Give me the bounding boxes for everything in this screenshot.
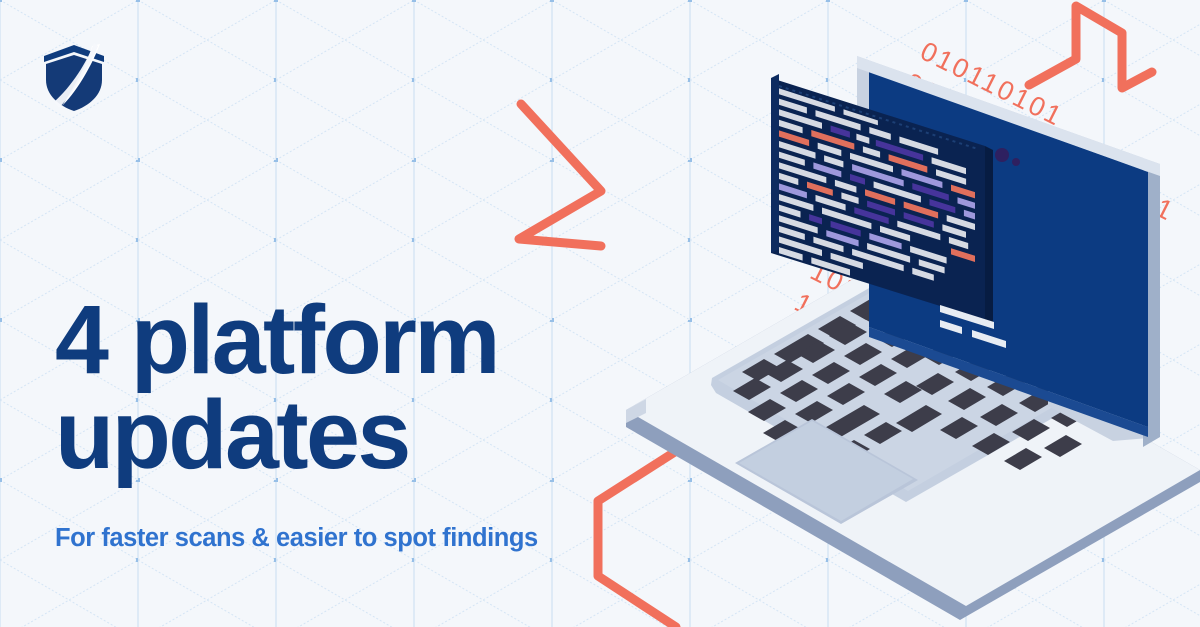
code-bar-text (779, 99, 807, 114)
code-bar-coral (807, 182, 833, 196)
promo-banner: 010110101 01010101001010101 010101101010… (0, 0, 1200, 627)
code-bar-text (779, 88, 835, 112)
page-subtitle: For faster scans & easier to spot findin… (55, 524, 675, 553)
code-bar-lavender (779, 183, 807, 198)
binary-digits-decoration: 010110101 01010101001010101 010101101010… (757, 34, 1200, 572)
zigzag-left (519, 104, 601, 246)
code-bar-text (779, 247, 803, 261)
code-bar-text (779, 162, 826, 183)
zigzag-top-right (1029, 6, 1152, 88)
code-bar-text (824, 155, 843, 167)
code-bar-text (779, 152, 805, 166)
code-bar-lavender (813, 162, 841, 177)
code-bar-text (779, 226, 805, 240)
code-bar-coral (779, 130, 809, 146)
shield-swoosh-logo[interactable] (42, 42, 106, 112)
code-bar-text (818, 143, 842, 157)
code-bar-text (779, 236, 822, 256)
code-bar-text (844, 108, 878, 125)
page-title: 4 platform updates (55, 292, 675, 482)
code-bar-text (779, 173, 798, 185)
code-bar-coral (811, 130, 854, 150)
code-bar-text (779, 109, 822, 129)
code-bar-text (779, 215, 818, 233)
code-bar-purple (831, 126, 850, 138)
code-bar-text (779, 205, 801, 218)
hero-copy: 4 platform updates For faster scans & ea… (55, 292, 675, 553)
code-bar-text (856, 134, 869, 144)
code-bar-text (816, 110, 861, 130)
code-bar-text (779, 141, 816, 159)
code-bar-text (779, 194, 813, 211)
code-bar-text (816, 195, 846, 211)
code-bar-purple (809, 214, 822, 224)
code-bar-text (779, 120, 803, 134)
